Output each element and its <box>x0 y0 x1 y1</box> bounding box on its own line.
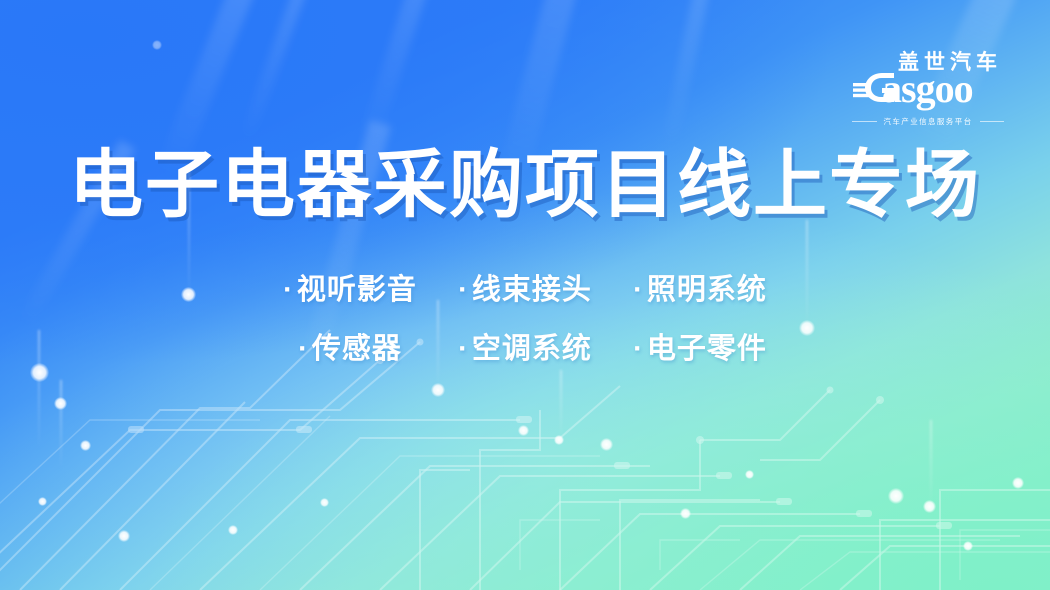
category-row-2: ·传感器 ·空调系统 ·电子零件 <box>263 325 788 367</box>
category-label: 空调系统 <box>472 333 592 365</box>
bullet-icon: · <box>633 274 644 306</box>
tagline-divider-left <box>852 121 877 122</box>
logo-tagline: 汽车产业信息服务平台 <box>884 116 973 127</box>
logo-tagline-row: 汽车产业信息服务平台 <box>852 116 1004 127</box>
logo-lockup: asgoo <box>852 67 1004 111</box>
category-item: ·空调系统 <box>438 325 613 367</box>
bullet-icon: · <box>458 333 469 365</box>
logo-wordmark: asgoo <box>882 67 973 111</box>
bullet-icon: · <box>633 333 644 365</box>
category-label: 电子零件 <box>647 333 767 365</box>
category-item: ·视听影音 <box>263 266 438 308</box>
category-row-1: ·视听影音 ·线束接头 ·照明系统 <box>263 266 788 308</box>
category-item: ·传感器 <box>263 325 438 367</box>
category-label: 线束接头 <box>472 274 592 306</box>
page-title: 电子电器采购项目线上专场 <box>0 148 1050 222</box>
tagline-divider-right <box>980 121 1005 122</box>
promo-banner: 盖世汽车 asgoo 汽车产业信息服务平台 电子电器采购项目线上专场 ·视听影音… <box>0 0 1050 590</box>
bullet-icon: · <box>283 274 294 306</box>
bullet-icon: · <box>298 333 309 365</box>
category-label: 传感器 <box>312 333 402 365</box>
category-item: ·照明系统 <box>613 266 788 308</box>
category-item: ·线束接头 <box>438 266 613 308</box>
category-label: 视听影音 <box>297 274 417 306</box>
gasgoo-logo[interactable]: 盖世汽车 asgoo 汽车产业信息服务平台 <box>852 52 1004 127</box>
category-label: 照明系统 <box>647 274 767 306</box>
category-list: ·视听影音 ·线束接头 ·照明系统 ·传感器 ·空调系统 ·电子零件 <box>0 266 1050 367</box>
category-item: ·电子零件 <box>613 325 788 367</box>
bullet-icon: · <box>458 274 469 306</box>
